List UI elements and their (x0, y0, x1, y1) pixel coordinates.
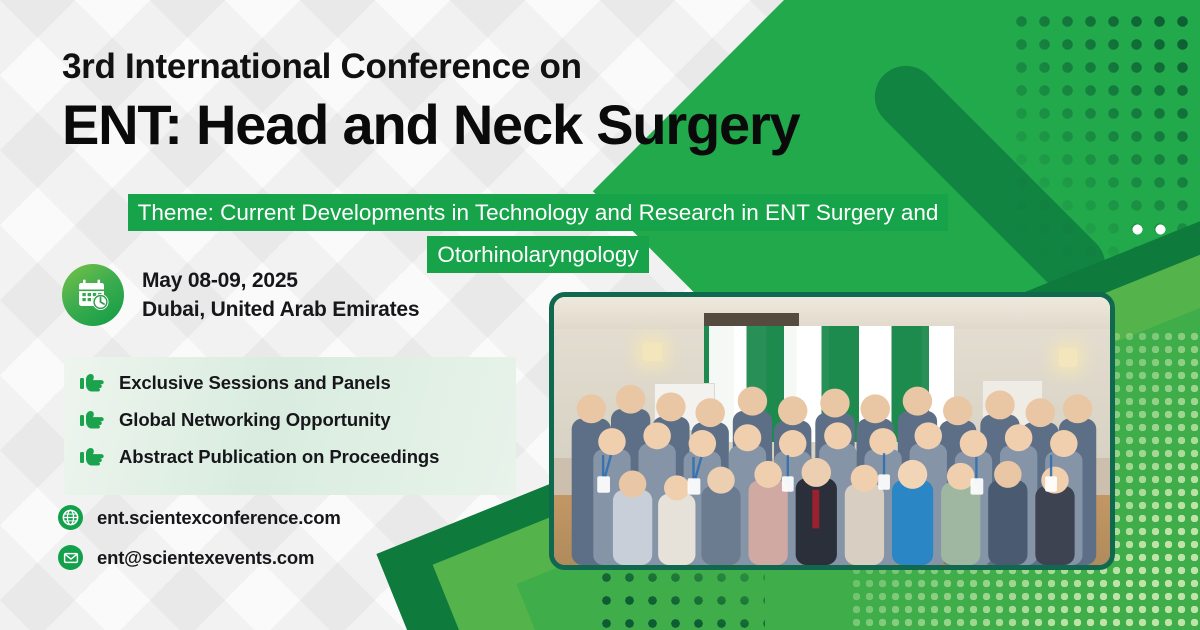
event-date: May 08-09, 2025 (142, 269, 419, 293)
list-item: Abstract Publication on Proceedings (80, 446, 439, 468)
conference-group-photo (549, 292, 1115, 570)
white-dot-grid-icon (1126, 218, 1172, 276)
list-item-label: Exclusive Sessions and Panels (119, 372, 391, 394)
list-item-label: Abstract Publication on Proceedings (119, 446, 439, 468)
website-url[interactable]: ent.scientexconference.com (97, 507, 341, 529)
page-title-prefix: 3rd International Conference on (62, 47, 582, 87)
theme-line-1: Theme: Current Developments in Technolog… (128, 194, 949, 231)
event-details: May 08-09, 2025 Dubai, United Arab Emira… (62, 264, 419, 326)
website-row[interactable]: ent.scientexconference.com (58, 505, 341, 530)
theme-line-2: Otorhinolaryngology (427, 236, 648, 273)
list-item: Exclusive Sessions and Panels (80, 372, 439, 394)
pointing-hand-icon (80, 409, 106, 431)
pointing-hand-icon (80, 372, 106, 394)
features-list: Exclusive Sessions and Panels Global Net… (80, 372, 439, 468)
top-right-halftone-dots (1010, 10, 1200, 280)
list-item: Global Networking Opportunity (80, 409, 439, 431)
list-item-label: Global Networking Opportunity (119, 409, 391, 431)
pointing-hand-icon (80, 446, 106, 468)
email-address[interactable]: ent@scientexevents.com (97, 547, 314, 569)
event-location: Dubai, United Arab Emirates (142, 298, 419, 322)
envelope-icon (58, 545, 83, 570)
conference-banner: 3rd International Conference on ENT: Hea… (0, 0, 1200, 630)
email-row[interactable]: ent@scientexevents.com (58, 545, 341, 570)
globe-icon (58, 505, 83, 530)
calendar-clock-icon (62, 264, 124, 326)
contact-info: ent.scientexconference.com ent@scientexe… (58, 505, 341, 570)
page-title: ENT: Head and Neck Surgery (62, 95, 800, 155)
